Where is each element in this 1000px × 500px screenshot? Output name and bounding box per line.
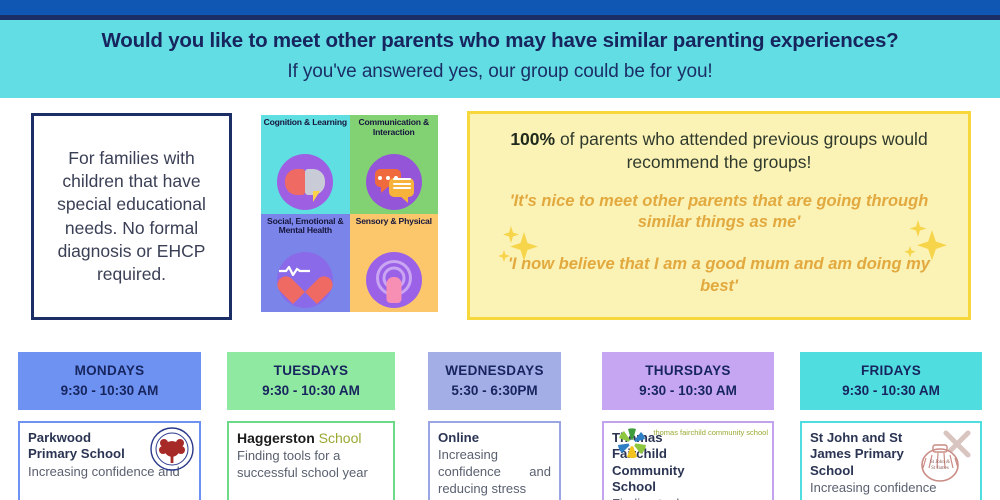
day-time: 9:30 - 10:30 AM (804, 381, 978, 401)
stat-percentage: 100% (510, 129, 555, 149)
weekly-schedule: MONDAYS 9:30 - 10:30 AM Parkwood Primary… (0, 352, 1000, 500)
day-header-thursdays: THURSDAYS 9:30 - 10:30 AM (602, 352, 774, 410)
pulse-line-icon (279, 266, 310, 276)
school-name: St John and St James Primary School (810, 430, 918, 479)
eligibility-text: For families with children that have spe… (34, 147, 229, 286)
day-time: 5:30 - 6:30PM (432, 381, 557, 401)
day-time: 9:30 - 10:30 AM (606, 381, 770, 401)
schedule-column-mondays[interactable]: MONDAYS 9:30 - 10:30 AM Parkwood Primary… (18, 352, 201, 500)
day-header-mondays: MONDAYS 9:30 - 10:30 AM (18, 352, 201, 410)
testimonial-box: 100% of parents who attended previous gr… (467, 111, 971, 320)
day-card-wednesdays: Online Increasing confidence and reducin… (428, 421, 561, 500)
haggerston-school-wordmark: Haggerston School (237, 430, 385, 447)
day-time: 9:30 - 10:30 AM (231, 381, 391, 401)
heart-pulse-icon (277, 252, 333, 308)
banner-question: Would you like to meet other parents who… (0, 29, 1000, 53)
testimonial-quote-1: 'It's nice to meet other parents that ar… (488, 191, 950, 235)
send-quadrant-communication: Communication & Interaction (350, 115, 439, 214)
svg-text:St James: St James (931, 466, 949, 471)
speech-bubbles-icon (366, 154, 422, 210)
send-quadrant-label: Cognition & Learning (261, 118, 350, 128)
day-label: WEDNESDAYS (432, 361, 557, 381)
headline-banner: Would you like to meet other parents who… (0, 20, 1000, 98)
day-card-tuesdays: Haggerston School Finding tools for a su… (227, 421, 395, 500)
parkwood-primary-school-logo (150, 427, 194, 476)
brain-icon (277, 154, 333, 210)
touch-hand-icon (366, 252, 422, 308)
send-quadrant-social-emotional: Social, Emotional & Mental Health (261, 214, 350, 313)
recommendation-stat: 100% of parents who attended previous gr… (488, 128, 950, 174)
day-card-mondays: Parkwood Primary School Increasing confi… (18, 421, 201, 500)
school-name-part-2: School (315, 430, 362, 446)
school-name-part-1: Haggerston (237, 430, 315, 446)
session-description: Finding tools for a successful school ye… (237, 448, 385, 482)
st-john-and-st-james-primary-school-logo: St John & St James (912, 425, 974, 488)
day-card-fridays: St John & St James St John and St James … (800, 421, 982, 500)
send-quadrant-cognition: Cognition & Learning (261, 115, 350, 214)
session-description: Increasing confidence and reducing stres… (438, 447, 551, 498)
send-quadrant-label: Social, Emotional & Mental Health (261, 217, 350, 236)
day-header-wednesdays: WEDNESDAYS 5:30 - 6:30PM (428, 352, 561, 410)
thomas-fairchild-community-school-logo: thomas fairchild community school (613, 426, 768, 462)
schedule-column-fridays[interactable]: FRIDAYS 9:30 - 10:30 AM St John & St Jam… (800, 352, 982, 500)
stat-text: of parents who attended previous groups … (555, 129, 928, 172)
schedule-column-wednesdays[interactable]: WEDNESDAYS 5:30 - 6:30PM Online Increasi… (428, 352, 561, 500)
send-quadrant-label: Sensory & Physical (350, 217, 439, 227)
day-label: FRIDAYS (804, 361, 978, 381)
logo-wordmark: thomas fairchild community school (653, 429, 768, 438)
day-label: MONDAYS (22, 361, 197, 381)
send-quadrant-sensory-physical: Sensory & Physical (350, 214, 439, 313)
day-time: 9:30 - 10:30 AM (22, 381, 197, 401)
day-label: TUESDAYS (231, 361, 391, 381)
day-card-thursdays: thomas fairchild community school Thomas… (602, 421, 774, 500)
svg-text:St John &: St John & (930, 460, 950, 465)
school-name: Parkwood Primary School (28, 430, 138, 462)
eligibility-info-box: For families with children that have spe… (31, 113, 232, 320)
poster-page: Would you like to meet other parents who… (0, 0, 1000, 500)
send-areas-graphic: Cognition & Learning Communication & Int… (261, 115, 438, 312)
day-header-fridays: FRIDAYS 9:30 - 10:30 AM (800, 352, 982, 410)
day-header-tuesdays: TUESDAYS 9:30 - 10:30 AM (227, 352, 395, 410)
testimonial-quote-2: 'I now believe that I am a good mum and … (488, 254, 950, 298)
send-quadrant-label: Communication & Interaction (350, 118, 439, 137)
schedule-column-thursdays[interactable]: THURSDAYS 9:30 - 10:30 AM (602, 352, 774, 500)
banner-subtitle: If you've answered yes, our group could … (0, 61, 1000, 83)
school-name: Online (438, 430, 548, 446)
day-label: THURSDAYS (606, 361, 770, 381)
top-blue-strip (0, 0, 1000, 15)
schedule-column-tuesdays[interactable]: TUESDAYS 9:30 - 10:30 AM Haggerston Scho… (227, 352, 395, 500)
session-description: Finding tools (612, 496, 764, 500)
